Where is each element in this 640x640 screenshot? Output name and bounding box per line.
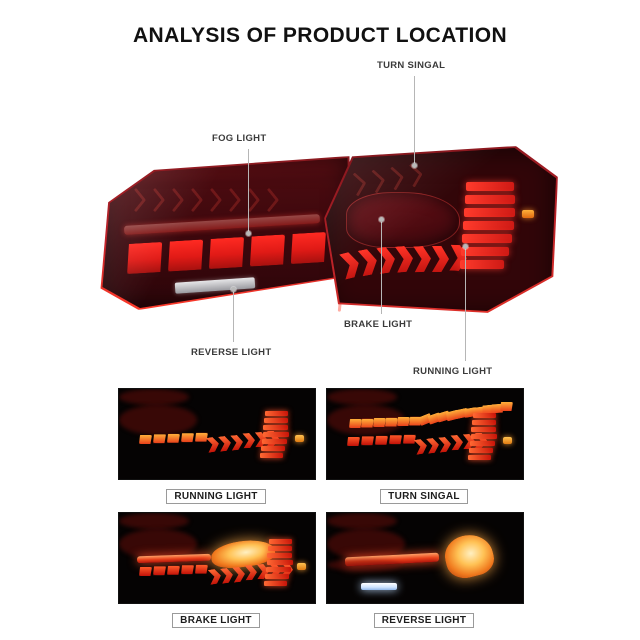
brake-arrow (218, 435, 232, 452)
running-slat (267, 560, 293, 565)
leader-dot-running-light (463, 244, 468, 249)
housing-ghost (119, 405, 197, 435)
caption-brake-light-photo: BRAKE LIGHT (172, 613, 260, 628)
callout-label-running-light: RUNNING LIGHT (413, 366, 492, 377)
leader-line-running-light (465, 249, 466, 361)
brake-arrow (232, 566, 246, 582)
running-segment (181, 433, 194, 442)
leader-dot-reverse-light (231, 287, 236, 292)
brake-arrow (206, 436, 220, 453)
running-slat (264, 418, 288, 423)
running-slat (471, 434, 497, 439)
running-segment (403, 435, 416, 444)
left-segment-row (125, 232, 327, 274)
housing-ghost (119, 513, 189, 529)
callout-label-reverse-light: REVERSE LIGHT (191, 347, 271, 358)
running-segment (181, 565, 194, 574)
reverse-ghost (327, 559, 401, 571)
housing-ghost (327, 513, 397, 529)
brake-arrow (426, 437, 440, 454)
gallery-cell-brake-light-photo: BRAKE LIGHT (118, 512, 314, 628)
running-segment (167, 566, 180, 575)
brake-bar (137, 554, 211, 564)
gallery-cell-turn-signal-photo: TURN SINGAL (326, 388, 522, 504)
running-slat (260, 453, 283, 458)
callout-label-fog-light: FOG LIGHT (212, 133, 266, 144)
reverse-white-led (361, 583, 397, 590)
turn-amber-segment (361, 419, 374, 428)
turn-amber-segment (349, 419, 362, 428)
brake-arrow (414, 438, 428, 455)
running-segment (195, 433, 208, 442)
caption-running-light-photo: RUNNING LIGHT (166, 489, 265, 504)
running-slat (268, 546, 292, 551)
running-segment (153, 566, 166, 575)
housing-ghost (119, 389, 189, 405)
right-tail-lamp (326, 148, 556, 316)
callout-label-brake-light: BRAKE LIGHT (344, 319, 412, 330)
running-slat (269, 539, 292, 544)
reverse-light-strip (175, 277, 256, 294)
leader-dot-fog-light (246, 231, 251, 236)
brake-arrow (244, 565, 257, 581)
running-slat (472, 420, 496, 425)
leader-line-turn-signal (414, 76, 415, 166)
turn-amber-segment (397, 417, 410, 426)
photo-brake (118, 512, 316, 604)
callout-label-turn-signal: TURN SINGAL (377, 60, 445, 71)
running-slat (265, 574, 289, 579)
leader-line-reverse-light (233, 292, 234, 342)
running-slat (473, 413, 496, 418)
turn-signal-chevrons (347, 166, 422, 193)
leader-line-brake-light (381, 222, 382, 314)
amber-marker-icon (297, 563, 306, 570)
running-slat (469, 448, 493, 453)
running-slat (471, 427, 496, 432)
running-segment (195, 565, 208, 574)
hero-product-image (78, 140, 548, 325)
running-segment (375, 436, 388, 445)
running-slat (470, 441, 495, 446)
reverse-pod (441, 530, 498, 582)
page-title: ANALYSIS OF PRODUCT LOCATION (0, 24, 640, 48)
running-segment (167, 434, 180, 443)
amber-marker-icon (522, 210, 534, 218)
caption-turn-signal-photo: TURN SINGAL (380, 489, 468, 504)
photo-running (118, 388, 316, 480)
running-segment (153, 434, 166, 443)
brake-arrow (208, 568, 222, 585)
leader-dot-turn-signal (412, 163, 417, 168)
running-slat (266, 567, 291, 572)
running-segment (139, 567, 152, 576)
running-slat (262, 439, 287, 444)
running-segment (139, 435, 152, 444)
turn-amber-segment (385, 418, 398, 427)
leader-line-fog-light (248, 149, 249, 234)
running-slat (263, 425, 288, 430)
amber-marker-icon (503, 437, 512, 444)
brake-arrow (230, 434, 244, 450)
brake-arrow (450, 435, 463, 451)
brake-arrow (242, 433, 255, 449)
running-slat (261, 446, 285, 451)
running-slat (263, 432, 289, 437)
running-slat (468, 455, 491, 460)
housing-ghost (327, 389, 397, 405)
running-slat (264, 581, 287, 586)
turn-amber-chevron (500, 402, 513, 411)
running-segment (347, 437, 360, 446)
gallery-cell-reverse-light-photo: REVERSE LIGHT (326, 512, 522, 628)
brake-lens-pocket (346, 192, 460, 248)
brake-arrow (220, 567, 234, 584)
photo-turn (326, 388, 524, 480)
left-chevron-strip (128, 192, 277, 208)
running-slat (267, 553, 292, 558)
product-analysis-page: ANALYSIS OF PRODUCT LOCATION (0, 0, 640, 640)
running-slat (265, 411, 288, 416)
gallery-cell-running-light-photo: RUNNING LIGHT (118, 388, 314, 504)
caption-reverse-light-photo: REVERSE LIGHT (374, 613, 474, 628)
photo-reverse (326, 512, 524, 604)
brake-arrow (438, 436, 452, 452)
turn-amber-segment (373, 418, 386, 427)
leader-dot-brake-light (379, 217, 384, 222)
left-tail-lamp (100, 158, 350, 308)
running-segment (361, 436, 374, 445)
running-segment (389, 435, 402, 444)
fog-light-bar (124, 214, 320, 235)
amber-marker-icon (295, 435, 304, 442)
